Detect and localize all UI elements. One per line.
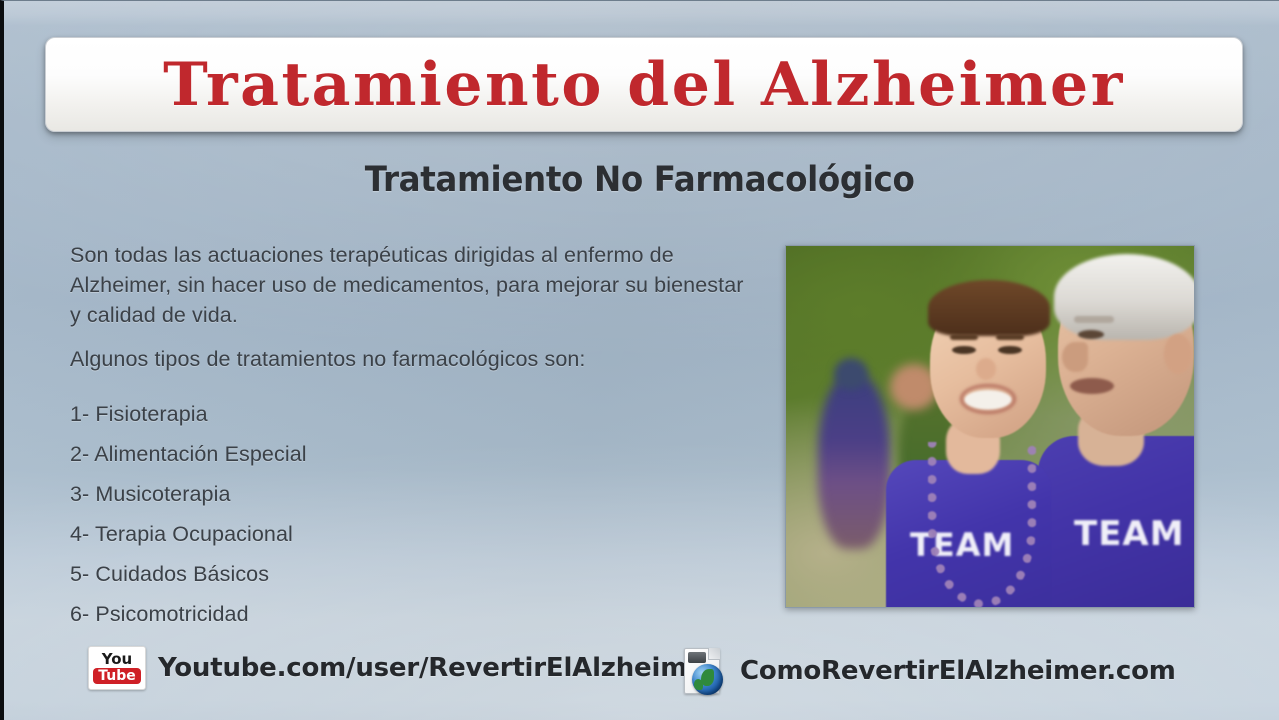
treatment-list: 1- Fisioterapia 2- Alimentación Especial… bbox=[70, 394, 760, 634]
list-item: 2- Alimentación Especial bbox=[70, 434, 760, 474]
intro-paragraph: Son todas las actuaciones terapéuticas d… bbox=[70, 240, 760, 330]
youtube-icon-you-text: You bbox=[102, 652, 132, 667]
list-lead-in-paragraph: Algunos tipos de tratamientos no farmaco… bbox=[70, 344, 760, 374]
woman-eye-left bbox=[952, 346, 976, 354]
body-text-column: Son todas las actuaciones terapéuticas d… bbox=[70, 240, 760, 634]
man-ear bbox=[1164, 334, 1192, 374]
page-title: Tratamiento del Alzheimer bbox=[163, 55, 1125, 115]
background-figure-head bbox=[834, 358, 868, 390]
man-eye bbox=[1078, 330, 1104, 339]
list-item: 6- Psicomotricidad bbox=[70, 594, 760, 634]
footer: You Tube Youtube.com/user/RevertirElAlzh… bbox=[0, 646, 1279, 702]
list-item: 5- Cuidados Básicos bbox=[70, 554, 760, 594]
woman-eyebrow-right bbox=[996, 334, 1024, 340]
presentation-slide: Tratamiento del Alzheimer Tratamiento No… bbox=[0, 0, 1279, 720]
list-item: 4- Terapia Ocupacional bbox=[70, 514, 760, 554]
woman-lips bbox=[960, 384, 1016, 414]
website-url-label[interactable]: ComoRevertirElAlzheimer.com bbox=[740, 656, 1176, 686]
youtube-channel-label[interactable]: Youtube.com/user/RevertirElAlzheimer bbox=[158, 653, 717, 683]
man-shirt-text: TEAM bbox=[1074, 514, 1185, 554]
title-card: Tratamiento del Alzheimer bbox=[45, 37, 1243, 132]
list-item: 1- Fisioterapia bbox=[70, 394, 760, 434]
youtube-link[interactable]: You Tube Youtube.com/user/RevertirElAlzh… bbox=[88, 646, 717, 690]
subtitle-container: Tratamiento No Farmacológico bbox=[0, 160, 1279, 200]
photo-caregiver-and-elderly-man: TEAM TEAM bbox=[785, 245, 1195, 608]
man-mouth bbox=[1070, 378, 1114, 394]
man-nose bbox=[1062, 342, 1088, 372]
man-eyebrow bbox=[1074, 316, 1114, 323]
website-link[interactable]: ComoRevertirElAlzheimer.com bbox=[680, 646, 1176, 696]
globe-landmass-b bbox=[694, 679, 703, 690]
globe-icon bbox=[692, 664, 723, 695]
woman-hair-top bbox=[928, 280, 1050, 336]
document-fold-corner bbox=[708, 648, 720, 660]
youtube-icon[interactable]: You Tube bbox=[88, 646, 146, 690]
background-figure-purple bbox=[818, 374, 890, 549]
list-item: 3- Musicoterapia bbox=[70, 474, 760, 514]
subtitle: Tratamiento No Farmacológico bbox=[365, 160, 915, 200]
woman-eyebrow-left bbox=[950, 334, 978, 340]
document-code-tag bbox=[688, 652, 706, 663]
html-document-globe-icon[interactable] bbox=[680, 646, 728, 696]
woman-eye-right bbox=[998, 346, 1022, 354]
woman-nose bbox=[976, 358, 996, 380]
youtube-icon-tube-text: Tube bbox=[93, 668, 141, 684]
man-hair bbox=[1054, 254, 1195, 340]
